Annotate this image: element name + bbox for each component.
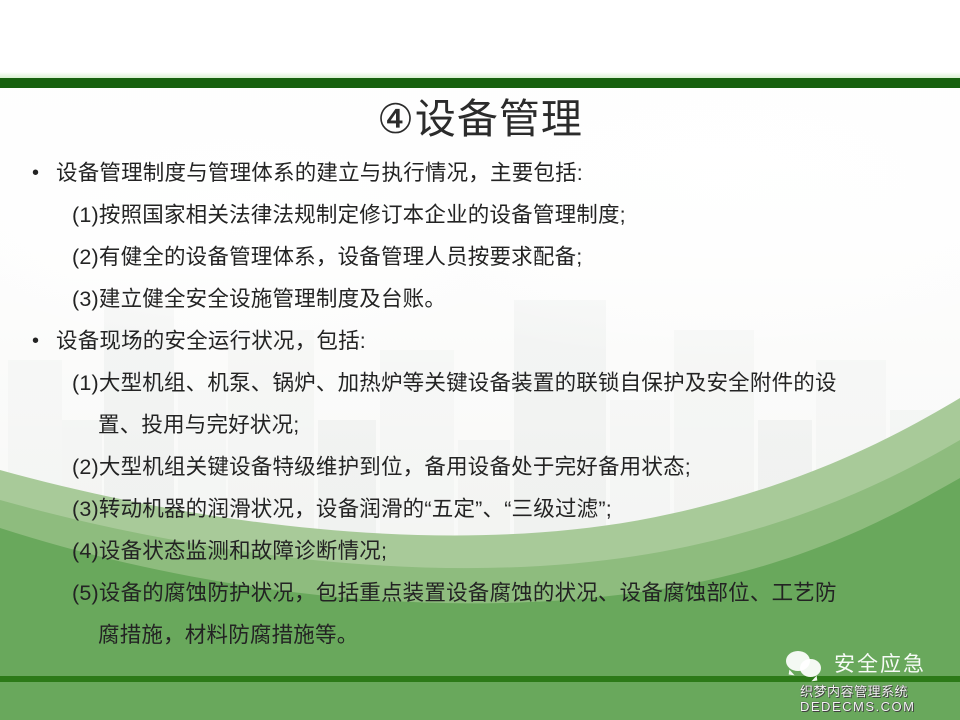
sub-item-line: (4)设备状态监测和故障诊断情况;: [28, 530, 934, 572]
sub-item-line: (2)有健全的设备管理体系，设备管理人员按要求配备;: [28, 236, 934, 278]
wechat-icon: [786, 650, 826, 680]
sub-item-line-continuation: 置、投用与完好状况;: [28, 404, 934, 446]
bullet-text: 设备现场的安全运行状况，包括:: [56, 320, 934, 362]
dedecms-watermark: 织梦内容管理系统 DEDECMS.COM: [800, 684, 915, 714]
sub-item-line: (1)按照国家相关法律法规制定修订本企业的设备管理制度;: [28, 194, 934, 236]
bullet-marker: •: [32, 320, 56, 362]
slide-title: ④设备管理: [0, 93, 960, 145]
wechat-account-name: 安全应急: [834, 653, 926, 677]
sub-item-line: (3)建立健全安全设施管理制度及台账。: [28, 278, 934, 320]
bullet-marker: •: [32, 152, 56, 194]
presentation-slide: ④设备管理 • 设备管理制度与管理体系的建立与执行情况，主要包括: (1)按照国…: [0, 0, 960, 720]
bullet-line: • 设备管理制度与管理体系的建立与执行情况，主要包括:: [28, 152, 934, 194]
dedecms-watermark-line1: 织梦内容管理系统: [800, 684, 915, 699]
sub-item-line: (3)转动机器的润滑状况，设备润滑的“五定”、“三级过滤”;: [28, 488, 934, 530]
sub-item-line: (2)大型机组关键设备特级维护到位，备用设备处于完好备用状态;: [28, 446, 934, 488]
sub-item-line: (5)设备的腐蚀防护状况，包括重点装置设备腐蚀的状况、设备腐蚀部位、工艺防: [28, 572, 934, 614]
dedecms-watermark-line2: DEDECMS.COM: [800, 699, 915, 714]
slide-body: • 设备管理制度与管理体系的建立与执行情况，主要包括: (1)按照国家相关法律法…: [28, 152, 934, 656]
bullet-line: • 设备现场的安全运行状况，包括:: [28, 320, 934, 362]
bullet-text: 设备管理制度与管理体系的建立与执行情况，主要包括:: [56, 152, 934, 194]
wechat-watermark: 安全应急: [786, 650, 926, 680]
sub-item-line: (1)大型机组、机泵、锅炉、加热炉等关键设备装置的联锁自保护及安全附件的设: [28, 362, 934, 404]
header-rule: [0, 78, 960, 88]
wechat-icon-bubble-small: [800, 659, 821, 677]
